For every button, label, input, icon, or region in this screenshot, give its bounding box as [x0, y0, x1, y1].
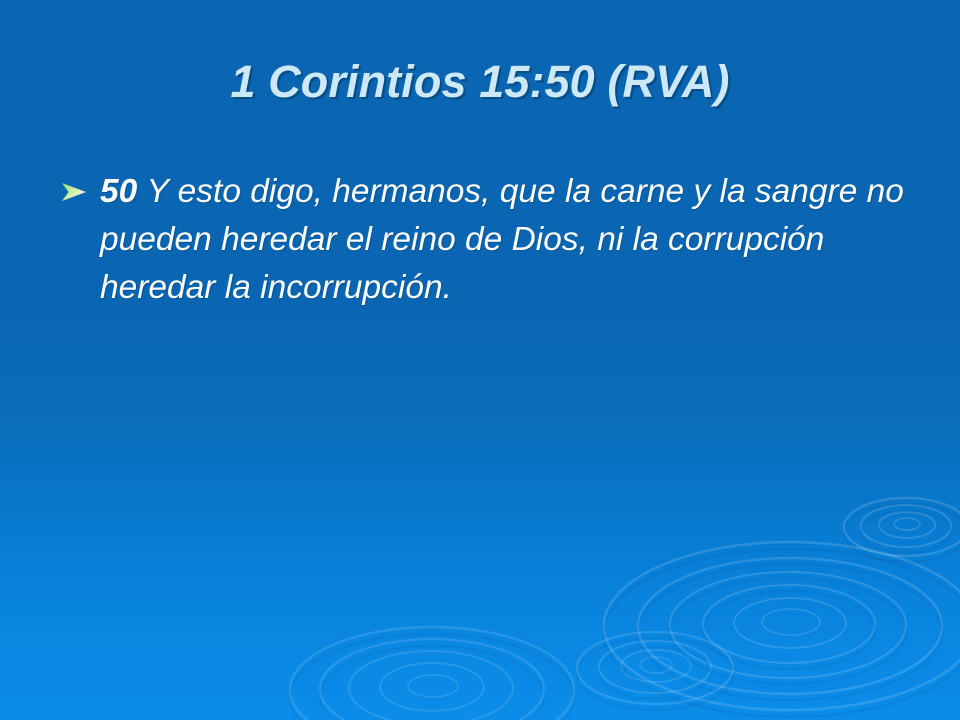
ripple-small-upper-right-shade: [844, 504, 960, 562]
verse-body: Y esto digo, hermanos, que la carne y la…: [100, 173, 904, 306]
arrowhead-bullet-icon: [60, 181, 88, 203]
ripple-large-center: [604, 542, 960, 710]
verse-number: 50: [100, 173, 147, 210]
ripple-bottom-left: [290, 627, 574, 720]
ripple-bottom-left-shade: [290, 634, 574, 720]
ripple-background-decoration: [0, 0, 960, 720]
presentation-slide: 1 Corintios 15:50 (RVA) 50 Y esto digo, …: [0, 0, 960, 720]
ripple-large-center-shade: [604, 549, 960, 717]
page-title: 1 Corintios 15:50 (RVA): [230, 56, 729, 108]
ripple-small-lower-left-shade: [577, 638, 733, 710]
slide-title-placeholder[interactable]: 1 Corintios 15:50 (RVA): [60, 56, 900, 108]
list-item: 50 Y esto digo, hermanos, que la carne y…: [56, 168, 912, 312]
ripple-small-upper-right: [844, 498, 960, 556]
ripple-small-lower-left: [577, 632, 733, 704]
verse-text: 50 Y esto digo, hermanos, que la carne y…: [100, 168, 912, 312]
slide-body-placeholder[interactable]: 50 Y esto digo, hermanos, que la carne y…: [56, 168, 912, 312]
